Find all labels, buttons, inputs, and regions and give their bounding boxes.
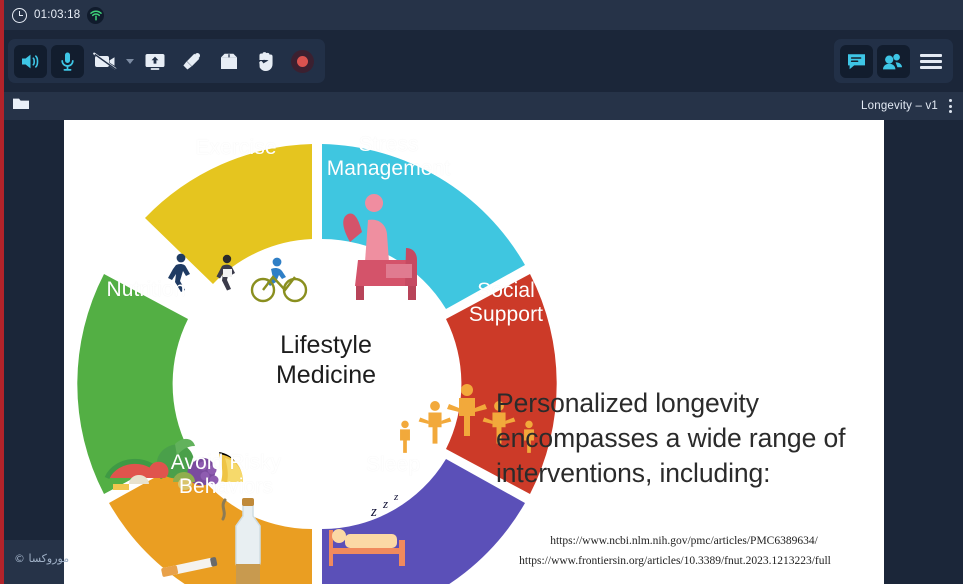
more-vertical-icon[interactable] xyxy=(946,96,955,116)
microphone-icon xyxy=(60,51,75,72)
document-title-bar: Longevity – v1 xyxy=(0,92,963,120)
svg-text:z: z xyxy=(382,496,388,511)
chat-icon xyxy=(846,52,867,71)
session-timer: 01:03:18 xyxy=(34,9,80,21)
share-screen-icon xyxy=(144,52,166,71)
chat-button[interactable] xyxy=(840,45,873,78)
center-label-line2: Medicine xyxy=(276,361,376,389)
svg-text:z: z xyxy=(393,491,399,503)
wheel-center-label: Lifestyle Medicine xyxy=(201,331,451,390)
wifi-icon xyxy=(87,7,104,24)
camera-off-button[interactable] xyxy=(88,45,121,78)
slide-body-text: Personalized longevity encompasses a wid… xyxy=(496,386,884,491)
shared-slide: z z z xyxy=(64,120,884,584)
watermark: موروکسا © xyxy=(14,552,69,565)
camera-dropdown-caret[interactable] xyxy=(126,59,134,64)
toolbar-left-group xyxy=(8,39,325,83)
speaker-icon xyxy=(20,52,42,71)
hand-icon xyxy=(256,51,275,72)
window-edge-accent xyxy=(0,0,4,584)
document-title: Longevity – v1 xyxy=(861,100,938,112)
microphone-button[interactable] xyxy=(51,45,84,78)
wheel-segment-exercise xyxy=(145,144,312,284)
camera-off-icon xyxy=(93,52,117,70)
clock-icon xyxy=(12,8,27,23)
status-bar: 01:03:18 xyxy=(0,0,963,30)
toolbar-right-group xyxy=(834,39,953,83)
speaker-button[interactable] xyxy=(14,45,47,78)
center-label-line1: Lifestyle xyxy=(280,331,372,359)
files-button[interactable] xyxy=(212,45,245,78)
menu-button[interactable] xyxy=(914,45,947,78)
pen-icon xyxy=(181,51,202,72)
share-screen-button[interactable] xyxy=(138,45,171,78)
whiteboard-pen-button[interactable] xyxy=(175,45,208,78)
briefcase-icon xyxy=(219,52,239,71)
folder-icon[interactable] xyxy=(12,96,30,116)
raise-hand-button[interactable] xyxy=(249,45,282,78)
record-button[interactable] xyxy=(286,45,319,78)
hamburger-icon xyxy=(920,54,942,69)
record-icon xyxy=(291,50,314,73)
participants-button[interactable] xyxy=(877,45,910,78)
svg-text:z: z xyxy=(370,504,377,520)
citation-link-2[interactable]: https://www.frontiersin.org/articles/10.… xyxy=(466,552,884,572)
citation-link-1[interactable]: https://www.ncbi.nlm.nih.gov/pmc/article… xyxy=(484,532,884,552)
meeting-toolbar xyxy=(0,30,963,92)
lifestyle-medicine-wheel: z z z xyxy=(64,120,581,584)
participants-icon xyxy=(882,52,905,71)
slide-citations: https://www.ncbi.nlm.nih.gov/pmc/article… xyxy=(484,532,884,572)
